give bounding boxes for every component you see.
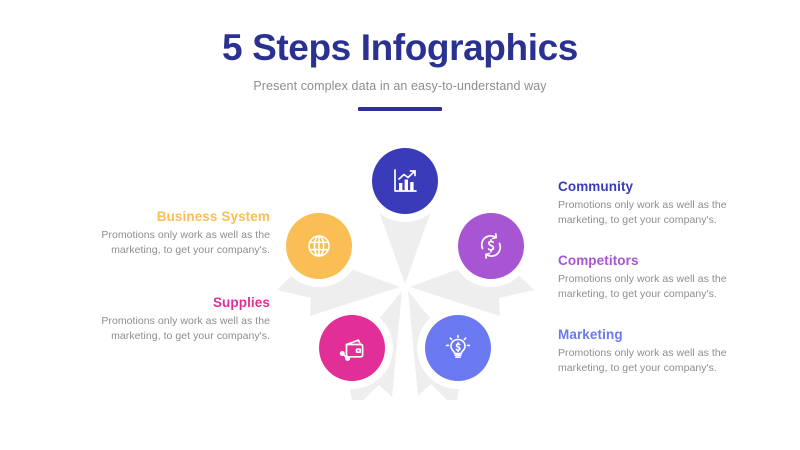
label-community-body: Promotions only work as well as the mark…: [558, 198, 776, 227]
label-supplies-body: Promotions only work as well as the mark…: [52, 314, 270, 343]
label-business-system-body: Promotions only work as well as the mark…: [52, 228, 270, 257]
label-marketing: Marketing Promotions only work as well a…: [558, 326, 776, 375]
label-competitors-body: Promotions only work as well as the mark…: [558, 272, 776, 301]
wallet-percent-icon: [336, 332, 368, 364]
accent-divider: [358, 107, 442, 111]
node-marketing[interactable]: [425, 315, 491, 381]
label-supplies-title: Supplies: [52, 294, 270, 311]
globe-icon: [303, 230, 335, 262]
label-marketing-body: Promotions only work as well as the mark…: [558, 346, 776, 375]
label-marketing-title: Marketing: [558, 326, 776, 343]
five-step-diagram: [272, 140, 538, 400]
label-supplies: Supplies Promotions only work as well as…: [52, 294, 270, 343]
infographic-slide: 5 Steps Infographics Present complex dat…: [0, 0, 800, 450]
page-title: 5 Steps Infographics: [0, 26, 800, 70]
header: 5 Steps Infographics Present complex dat…: [0, 26, 800, 111]
node-business-system[interactable]: [286, 213, 352, 279]
bar-chart-growth-icon: [389, 165, 421, 197]
money-refresh-icon: [475, 230, 507, 262]
label-business-system: Business System Promotions only work as …: [52, 208, 270, 257]
page-subtitle: Present complex data in an easy-to-under…: [0, 78, 800, 94]
label-business-system-title: Business System: [52, 208, 270, 225]
label-competitors: Competitors Promotions only work as well…: [558, 252, 776, 301]
node-supplies[interactable]: [319, 315, 385, 381]
label-community-title: Community: [558, 178, 776, 195]
label-competitors-title: Competitors: [558, 252, 776, 269]
label-community: Community Promotions only work as well a…: [558, 178, 776, 227]
node-community[interactable]: [372, 148, 438, 214]
node-competitors[interactable]: [458, 213, 524, 279]
lightbulb-dollar-icon: [442, 332, 474, 364]
